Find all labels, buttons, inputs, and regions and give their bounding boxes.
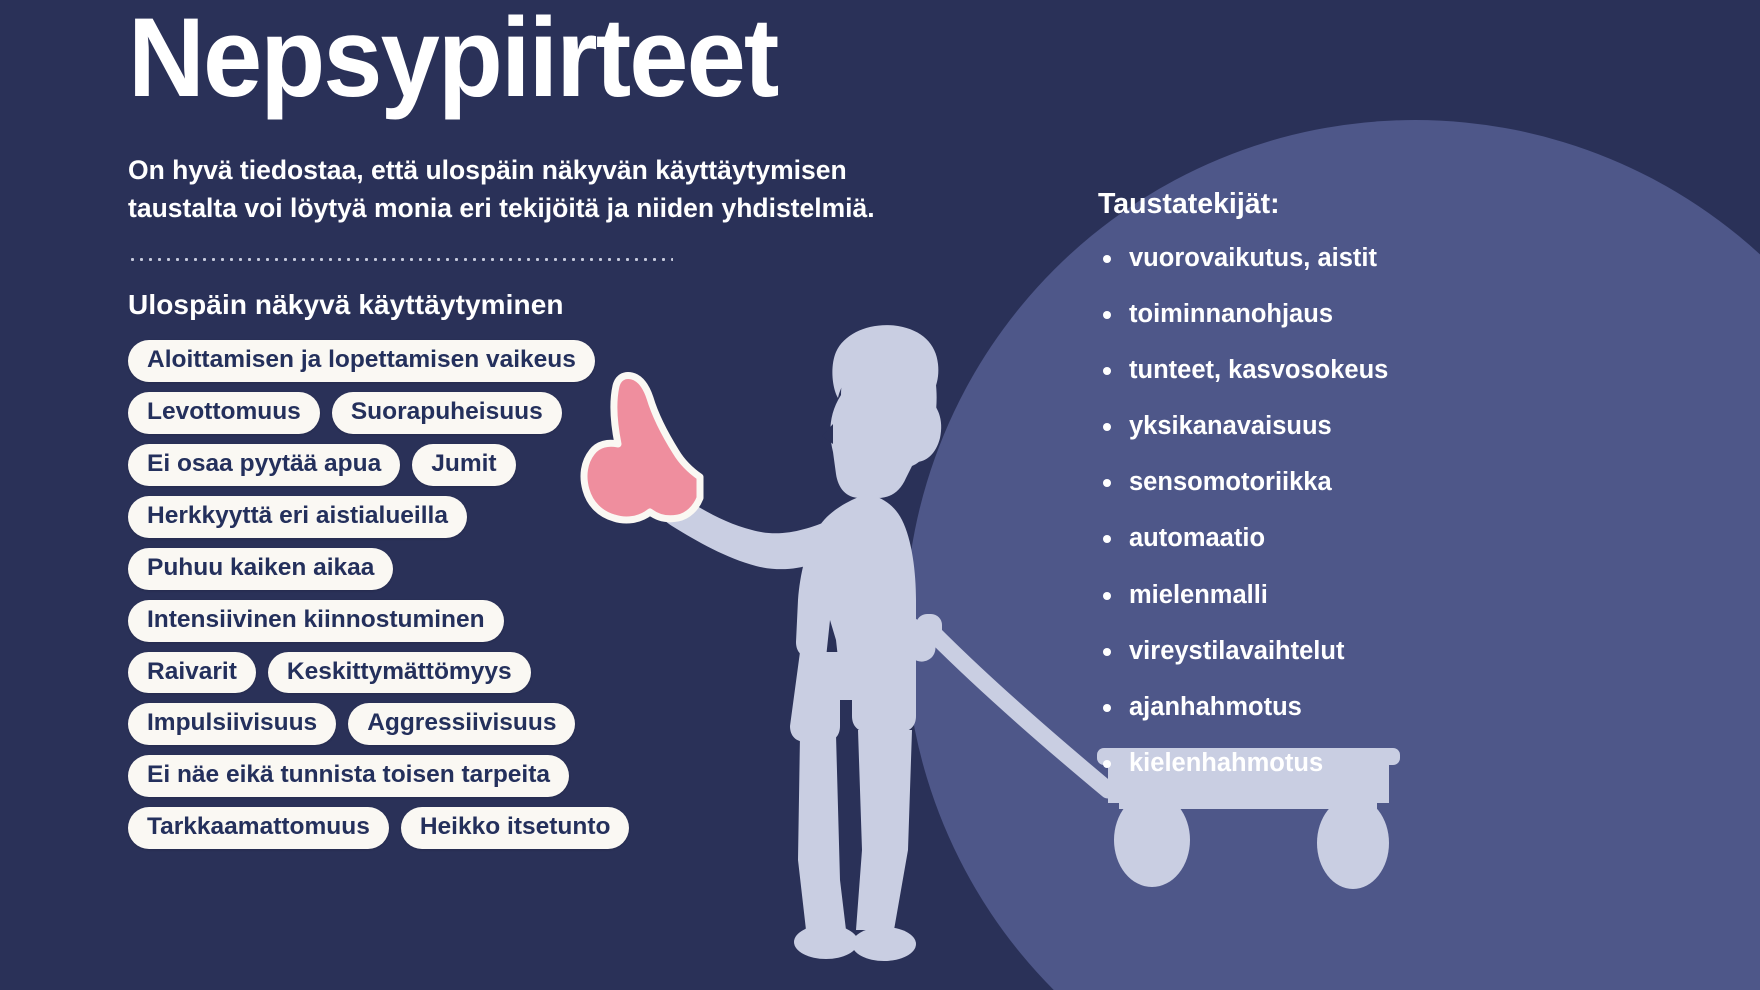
bullet-dot-icon [1103, 535, 1111, 543]
background-factor-label: yksikanavaisuus [1129, 412, 1332, 440]
intro-paragraph: On hyvä tiedostaa, että ulospäin näkyvän… [128, 152, 928, 227]
left-column: Nepsypiirteet On hyvä tiedostaa, että ul… [128, 0, 928, 859]
pill-row: Ei näe eikä tunnista toisen tarpeita [128, 755, 928, 797]
behaviour-pill[interactable]: Aloittamisen ja lopettamisen vaikeus [128, 340, 595, 382]
background-factor-item: toiminnanohjaus [1098, 299, 1698, 330]
bullet-dot-icon [1103, 592, 1111, 600]
pill-row: RaivaritKeskittymättömyys [128, 652, 928, 694]
behaviour-section-heading: Ulospäin näkyvä käyttäytyminen [128, 289, 928, 321]
bullet-dot-icon [1103, 760, 1111, 768]
bullet-dot-icon [1103, 255, 1111, 263]
background-factors-list: vuorovaikutus, aistittoiminnanohjaustunt… [1098, 243, 1698, 778]
behaviour-pill[interactable]: Aggressiivisuus [348, 703, 575, 745]
background-factor-item: sensomotoriikka [1098, 467, 1698, 498]
dotted-divider [128, 257, 673, 262]
background-factors-heading: Taustatekijät: [1098, 188, 1698, 221]
pill-row: Puhuu kaiken aikaa [128, 548, 928, 590]
behaviour-pill[interactable]: Jumit [412, 444, 515, 486]
background-factor-item: vuorovaikutus, aistit [1098, 243, 1698, 274]
behaviour-pill[interactable]: Puhuu kaiken aikaa [128, 548, 393, 590]
behaviour-pill[interactable]: Raivarit [128, 652, 256, 694]
background-factor-label: ajanhahmotus [1129, 693, 1302, 721]
background-factor-item: automaatio [1098, 523, 1698, 554]
background-factor-item: vireystilavaihtelut [1098, 636, 1698, 667]
bullet-dot-icon [1103, 704, 1111, 712]
behaviour-pill[interactable]: Keskittymättömyys [268, 652, 531, 694]
background-factor-label: automaatio [1129, 524, 1265, 552]
behaviour-pill[interactable]: Ei näe eikä tunnista toisen tarpeita [128, 755, 569, 797]
behaviour-pill[interactable]: Herkkyyttä eri aistialueilla [128, 496, 467, 538]
pill-row: Intensiivinen kiinnostuminen [128, 600, 928, 642]
background-factor-label: tunteet, kasvosokeus [1129, 356, 1388, 384]
pill-row: Herkkyyttä eri aistialueilla [128, 496, 928, 538]
background-factor-label: kielenhahmotus [1129, 749, 1323, 777]
right-column: Taustatekijät: vuorovaikutus, aistittoim… [1098, 188, 1698, 804]
background-factor-label: vireystilavaihtelut [1129, 637, 1344, 665]
behaviour-pill[interactable]: Ei osaa pyytää apua [128, 444, 400, 486]
behaviour-pill[interactable]: Heikko itsetunto [401, 807, 630, 849]
bullet-dot-icon [1103, 311, 1111, 319]
background-factor-label: vuorovaikutus, aistit [1129, 244, 1377, 272]
child-shoe-front [794, 925, 858, 959]
bullet-dot-icon [1103, 367, 1111, 375]
behaviour-pill[interactable]: Levottomuus [128, 392, 320, 434]
pill-row: TarkkaamattomuusHeikko itsetunto [128, 807, 928, 849]
bullet-dot-icon [1103, 479, 1111, 487]
background-factor-label: toiminnanohjaus [1129, 300, 1333, 328]
behaviour-pill[interactable]: Impulsiivisuus [128, 703, 336, 745]
background-factor-item: yksikanavaisuus [1098, 411, 1698, 442]
background-factor-label: mielenmalli [1129, 581, 1268, 609]
behaviour-pill-list: Aloittamisen ja lopettamisen vaikeusLevo… [128, 340, 928, 849]
pill-row: Aloittamisen ja lopettamisen vaikeus [128, 340, 928, 382]
background-factor-item: tunteet, kasvosokeus [1098, 355, 1698, 386]
pill-row: Ei osaa pyytää apuaJumit [128, 444, 928, 486]
child-shoe-back [852, 927, 916, 961]
background-factor-item: mielenmalli [1098, 580, 1698, 611]
background-factor-item: ajanhahmotus [1098, 692, 1698, 723]
infographic-poster: Nepsypiirteet On hyvä tiedostaa, että ul… [0, 0, 1760, 990]
background-factor-item: kielenhahmotus [1098, 748, 1698, 779]
behaviour-pill[interactable]: Tarkkaamattomuus [128, 807, 389, 849]
bullet-dot-icon [1103, 648, 1111, 656]
background-factor-label: sensomotoriikka [1129, 468, 1332, 496]
pill-row: LevottomuusSuorapuheisuus [128, 392, 928, 434]
pill-row: ImpulsiivisuusAggressiivisuus [128, 703, 928, 745]
behaviour-pill[interactable]: Suorapuheisuus [332, 392, 562, 434]
page-title: Nepsypiirteet [128, 0, 888, 114]
bullet-dot-icon [1103, 423, 1111, 431]
behaviour-pill[interactable]: Intensiivinen kiinnostuminen [128, 600, 504, 642]
